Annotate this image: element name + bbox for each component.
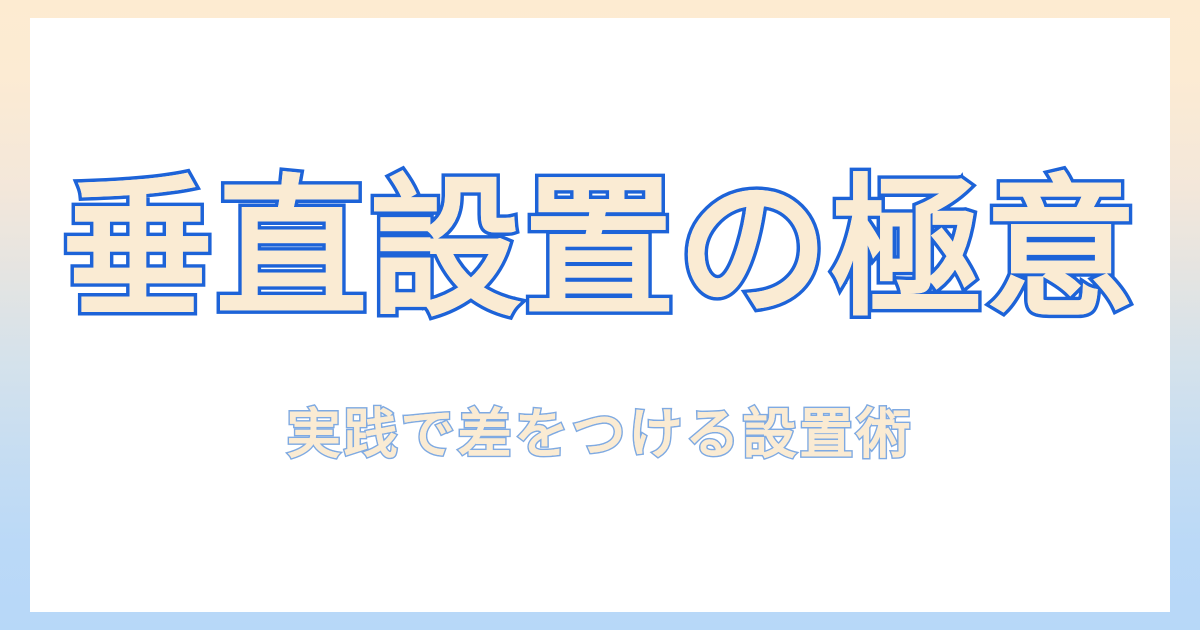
page-title: 垂直設置の極意 垂直設置の極意 xyxy=(30,156,1170,342)
text-stack: 垂直設置の極意 垂直設置の極意 実践で差をつける設置術 実践で差をつける設置術 xyxy=(30,156,1170,468)
page-subtitle-fill: 実践で差をつける設置術 xyxy=(30,390,1170,469)
poster-canvas: 垂直設置の極意 垂直設置の極意 実践で差をつける設置術 実践で差をつける設置術 xyxy=(0,0,1200,630)
page-title-fill: 垂直設置の極意 xyxy=(30,168,1170,329)
page-subtitle: 実践で差をつける設置術 実践で差をつける設置術 xyxy=(30,390,1170,468)
content-card: 垂直設置の極意 垂直設置の極意 実践で差をつける設置術 実践で差をつける設置術 xyxy=(30,18,1170,612)
